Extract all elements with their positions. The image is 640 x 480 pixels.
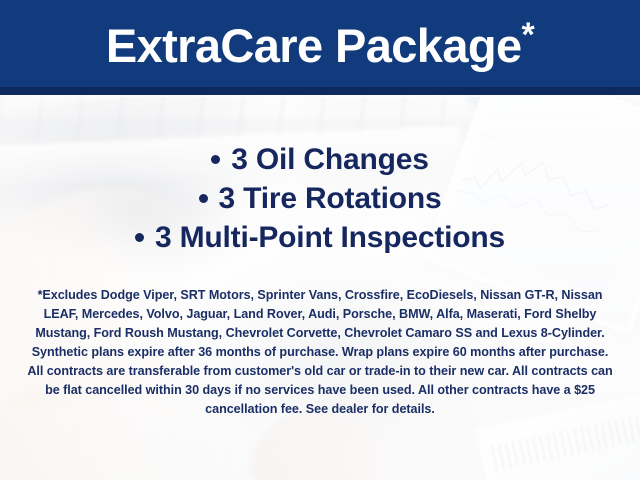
bullet-dot-icon	[199, 194, 208, 203]
header-highlight-rule	[0, 95, 640, 97]
header-bottom-rule	[0, 87, 640, 95]
list-item: 3 Oil Changes	[0, 140, 640, 179]
disclaimer-text: *Excludes Dodge Viper, SRT Motors, Sprin…	[26, 286, 614, 419]
benefits-list: 3 Oil Changes 3 Tire Rotations 3 Multi-P…	[0, 140, 640, 257]
list-item: 3 Tire Rotations	[0, 179, 640, 218]
extracare-package-ad: ExtraCare Package* 3 Oil Changes 3 Tire …	[0, 0, 640, 480]
bullet-dot-icon	[211, 155, 220, 164]
list-item-label: 3 Multi-Point Inspections	[155, 221, 505, 254]
bullet-dot-icon	[135, 233, 144, 242]
footnote-marker: *	[522, 16, 535, 54]
list-item: 3 Multi-Point Inspections	[0, 218, 640, 257]
page-title-text: ExtraCare Package	[106, 19, 522, 72]
page-title: ExtraCare Package*	[0, 18, 640, 74]
photo-lower-grille	[491, 415, 640, 472]
list-item-label: 3 Tire Rotations	[219, 182, 442, 215]
list-item-label: 3 Oil Changes	[231, 143, 428, 176]
photo-radiator-fins	[0, 96, 480, 140]
